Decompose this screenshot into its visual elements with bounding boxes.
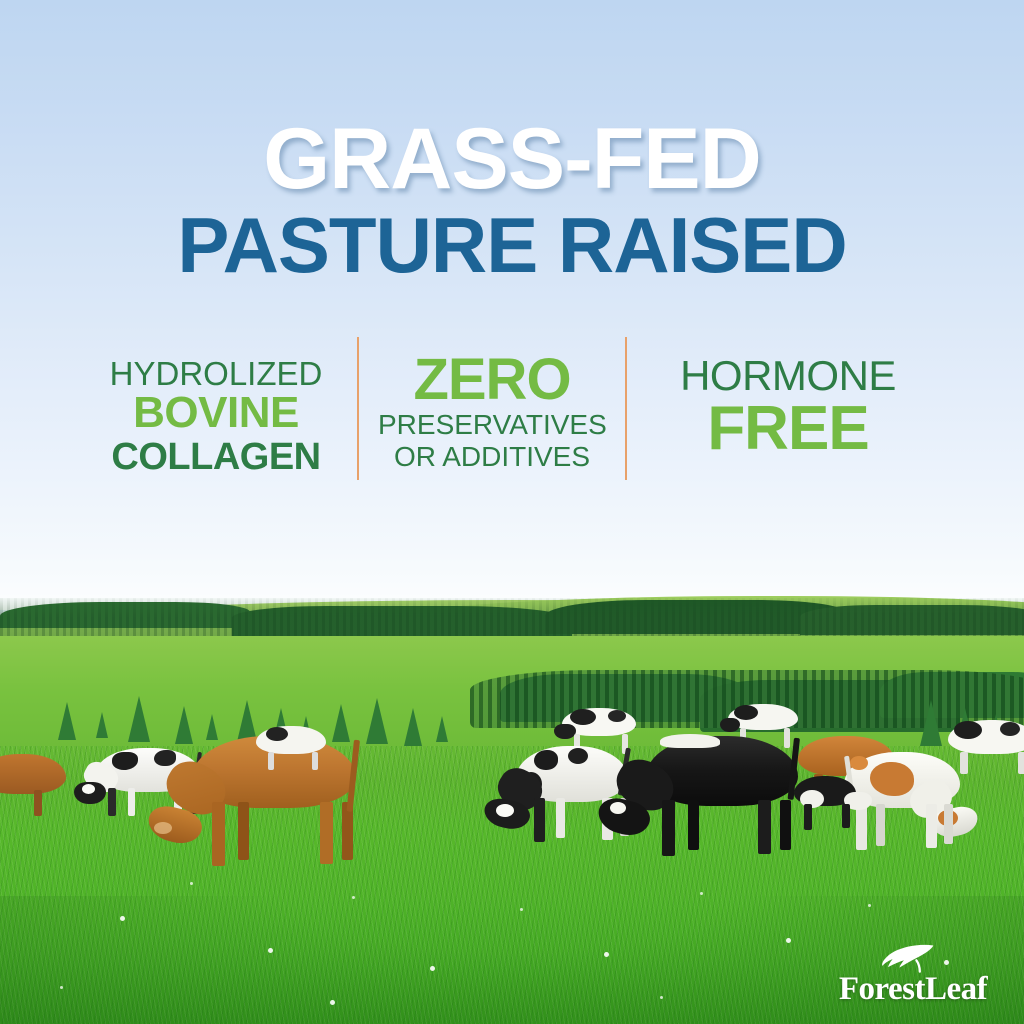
feature-line-2: FREE — [648, 397, 928, 460]
cow-black-center — [600, 736, 810, 856]
clover-flower — [120, 916, 125, 921]
clover-flower — [700, 892, 703, 895]
cow-holstein-distant-left — [250, 724, 336, 770]
feature-hormone-free: HORMONE FREE — [648, 355, 928, 460]
conifer-tree — [96, 712, 108, 738]
clover-flower — [604, 952, 609, 957]
clover-flower — [330, 1000, 335, 1005]
conifer-tree — [920, 700, 942, 746]
clover-flower — [786, 938, 791, 943]
conifer-tree — [436, 716, 448, 742]
feature-hydrolized-bovine-collagen: HYDROLIZED BOVINE COLLAGEN — [96, 357, 336, 477]
feature-line-1: HYDROLIZED — [96, 357, 336, 390]
feature-line-2: BOVINE — [96, 390, 336, 437]
leaf-icon — [879, 941, 947, 975]
feature-divider — [357, 337, 359, 480]
brand-wordmark: ForestLeaf — [820, 973, 1006, 1006]
feature-line-3: COLLAGEN — [96, 437, 336, 477]
clover-flower — [190, 882, 193, 885]
clover-flower — [60, 986, 63, 989]
headline-secondary: PASTURE RAISED — [0, 206, 1024, 284]
feature-list: HYDROLIZED BOVINE COLLAGEN ZERO PRESERVA… — [0, 337, 1024, 482]
feature-zero-preservatives: ZERO PRESERVATIVES OR ADDITIVES — [378, 351, 606, 473]
clover-flower — [268, 948, 273, 953]
conifer-tree — [58, 702, 76, 740]
feature-line-1: HORMONE — [648, 355, 928, 397]
clover-flower — [660, 996, 663, 999]
cow-brown-far-left — [0, 748, 74, 806]
headline-primary: GRASS-FED — [0, 118, 1024, 201]
clover-flower — [430, 966, 435, 971]
sky-background — [0, 0, 1024, 610]
conifer-tree — [404, 708, 422, 746]
promo-banner: GRASS-FED PASTURE RAISED HYDROLIZED BOVI… — [0, 0, 1024, 1024]
conifer-tree — [128, 696, 150, 742]
feature-line-2: PRESERVATIVES — [378, 409, 606, 441]
cow-holstein-far-right — [944, 718, 1024, 776]
feature-line-3: OR ADDITIVES — [378, 441, 606, 473]
cow-calf-right — [790, 774, 882, 832]
brand-logo: ForestLeaf — [820, 941, 1006, 1006]
clover-flower — [868, 904, 871, 907]
clover-flower — [520, 908, 523, 911]
feature-divider — [625, 337, 627, 480]
feature-line-1: ZERO — [378, 351, 606, 409]
clover-flower — [352, 896, 355, 899]
